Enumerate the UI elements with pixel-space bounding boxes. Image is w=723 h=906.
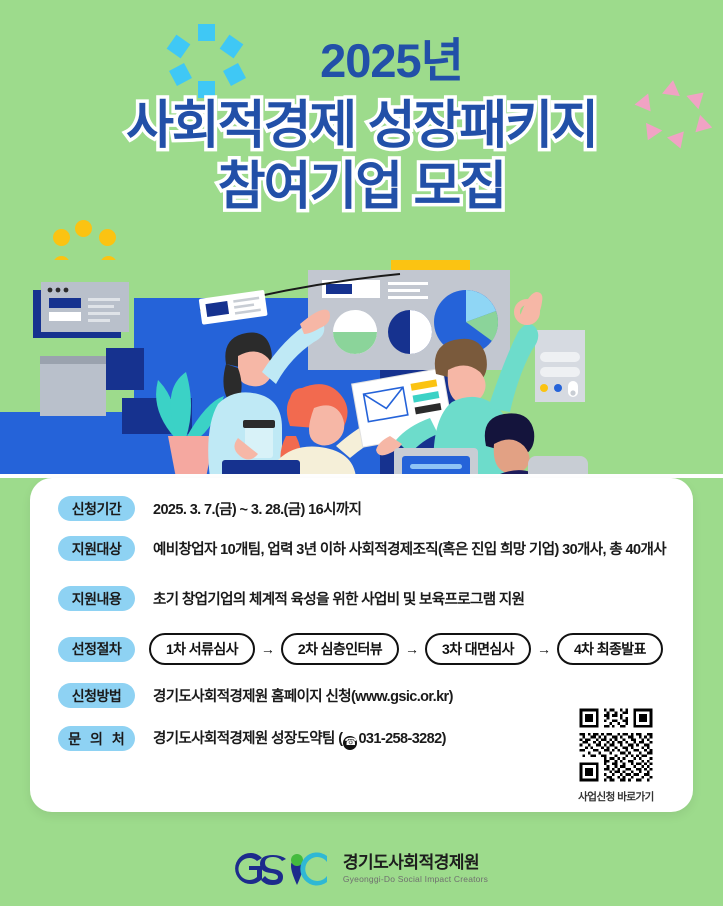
poster-root: 2025년 사회적경제 성장패키지 참여기업 모집 (0, 0, 723, 906)
info-row-application-period: 신청기간 2025. 3. 7.(금) ~ 3. 28.(금) 16시까지 (58, 496, 361, 521)
headline-line-2: 참여기업 모집 (0, 157, 723, 218)
qr-code[interactable] (577, 706, 655, 784)
value-how-to-apply: 경기도사회적경제원 홈페이지 신청(www.gsic.or.kr) (153, 685, 453, 706)
qr-section[interactable]: 사업신청 바로가기 (573, 706, 659, 804)
year-title: 2025년 (0, 22, 723, 91)
page-title: 사회적경제 성장패키지 참여기업 모집 (0, 96, 723, 219)
step-arrow-2: → (405, 641, 419, 657)
info-row-contact: 문 의 처 경기도사회적경제원 성장도약팀 (☎031-258-3282) (58, 726, 446, 751)
qr-caption: 사업신청 바로가기 (573, 789, 659, 804)
step-arrow-1: → (261, 641, 275, 657)
value-target-bold: 총 40개사 (609, 542, 666, 558)
office-teamwork-illustration (0, 260, 723, 478)
step-1: 1차 서류심사 (149, 633, 255, 665)
value-target: 예비창업자 10개팀, 업력 3년 이하 사회적경제조직(혹은 진입 희망 기업… (153, 538, 666, 559)
value-application-period: 2025. 3. 7.(금) ~ 3. 28.(금) 16시까지 (153, 498, 361, 519)
footer-org: 경기도사회적경제원 Gyeonggi-Do Social Impact Crea… (343, 853, 488, 884)
step-3: 3차 대면심사 (425, 633, 531, 665)
gsic-logo-icon (235, 852, 331, 886)
step-4: 4차 최종발표 (557, 633, 663, 665)
footer: 경기도사회적경제원 Gyeonggi-Do Social Impact Crea… (0, 852, 723, 886)
value-target-plain: 예비창업자 10개팀, 업력 3년 이하 사회적경제조직(혹은 진입 희망 기업… (153, 542, 609, 558)
step-2: 2차 심층인터뷰 (281, 633, 399, 665)
info-row-target: 지원대상 예비창업자 10개팀, 업력 3년 이하 사회적경제조직(혹은 진입 … (58, 536, 666, 561)
label-how-to-apply: 신청방법 (58, 683, 135, 708)
value-contact-suffix: ) (442, 731, 446, 747)
label-process: 선정절차 (58, 637, 135, 662)
info-card: 신청기간 2025. 3. 7.(금) ~ 3. 28.(금) 16시까지 지원… (30, 478, 693, 812)
label-target: 지원대상 (58, 536, 135, 561)
info-row-support: 지원내용 초기 창업기업의 체계적 육성을 위한 사업비 및 보육프로그램 지원 (58, 586, 524, 611)
footer-org-en: Gyeonggi-Do Social Impact Creators (343, 875, 488, 885)
label-application-period: 신청기간 (58, 496, 135, 521)
value-contact-prefix: 경기도사회적경제원 성장도약팀 ( (153, 731, 342, 747)
value-contact-phone: 031-258-3282 (358, 731, 441, 747)
info-row-process: 선정절차 1차 서류심사 → 2차 심층인터뷰 → 3차 대면심사 → 4차 최… (58, 633, 663, 665)
value-contact: 경기도사회적경제원 성장도약팀 (☎031-258-3282) (153, 727, 446, 750)
headline-line-1: 사회적경제 성장패키지 (126, 97, 597, 155)
label-contact: 문 의 처 (58, 726, 135, 751)
selection-process-steps: 1차 서류심사 → 2차 심층인터뷰 → 3차 대면심사 → 4차 최종발표 (149, 633, 663, 665)
label-support: 지원내용 (58, 586, 135, 611)
value-support: 초기 창업기업의 체계적 육성을 위한 사업비 및 보육프로그램 지원 (153, 588, 524, 609)
footer-org-kr: 경기도사회적경제원 (343, 853, 488, 873)
info-row-how-to-apply: 신청방법 경기도사회적경제원 홈페이지 신청(www.gsic.or.kr) (58, 683, 453, 708)
phone-icon: ☎ (343, 736, 357, 750)
step-arrow-3: → (537, 641, 551, 657)
